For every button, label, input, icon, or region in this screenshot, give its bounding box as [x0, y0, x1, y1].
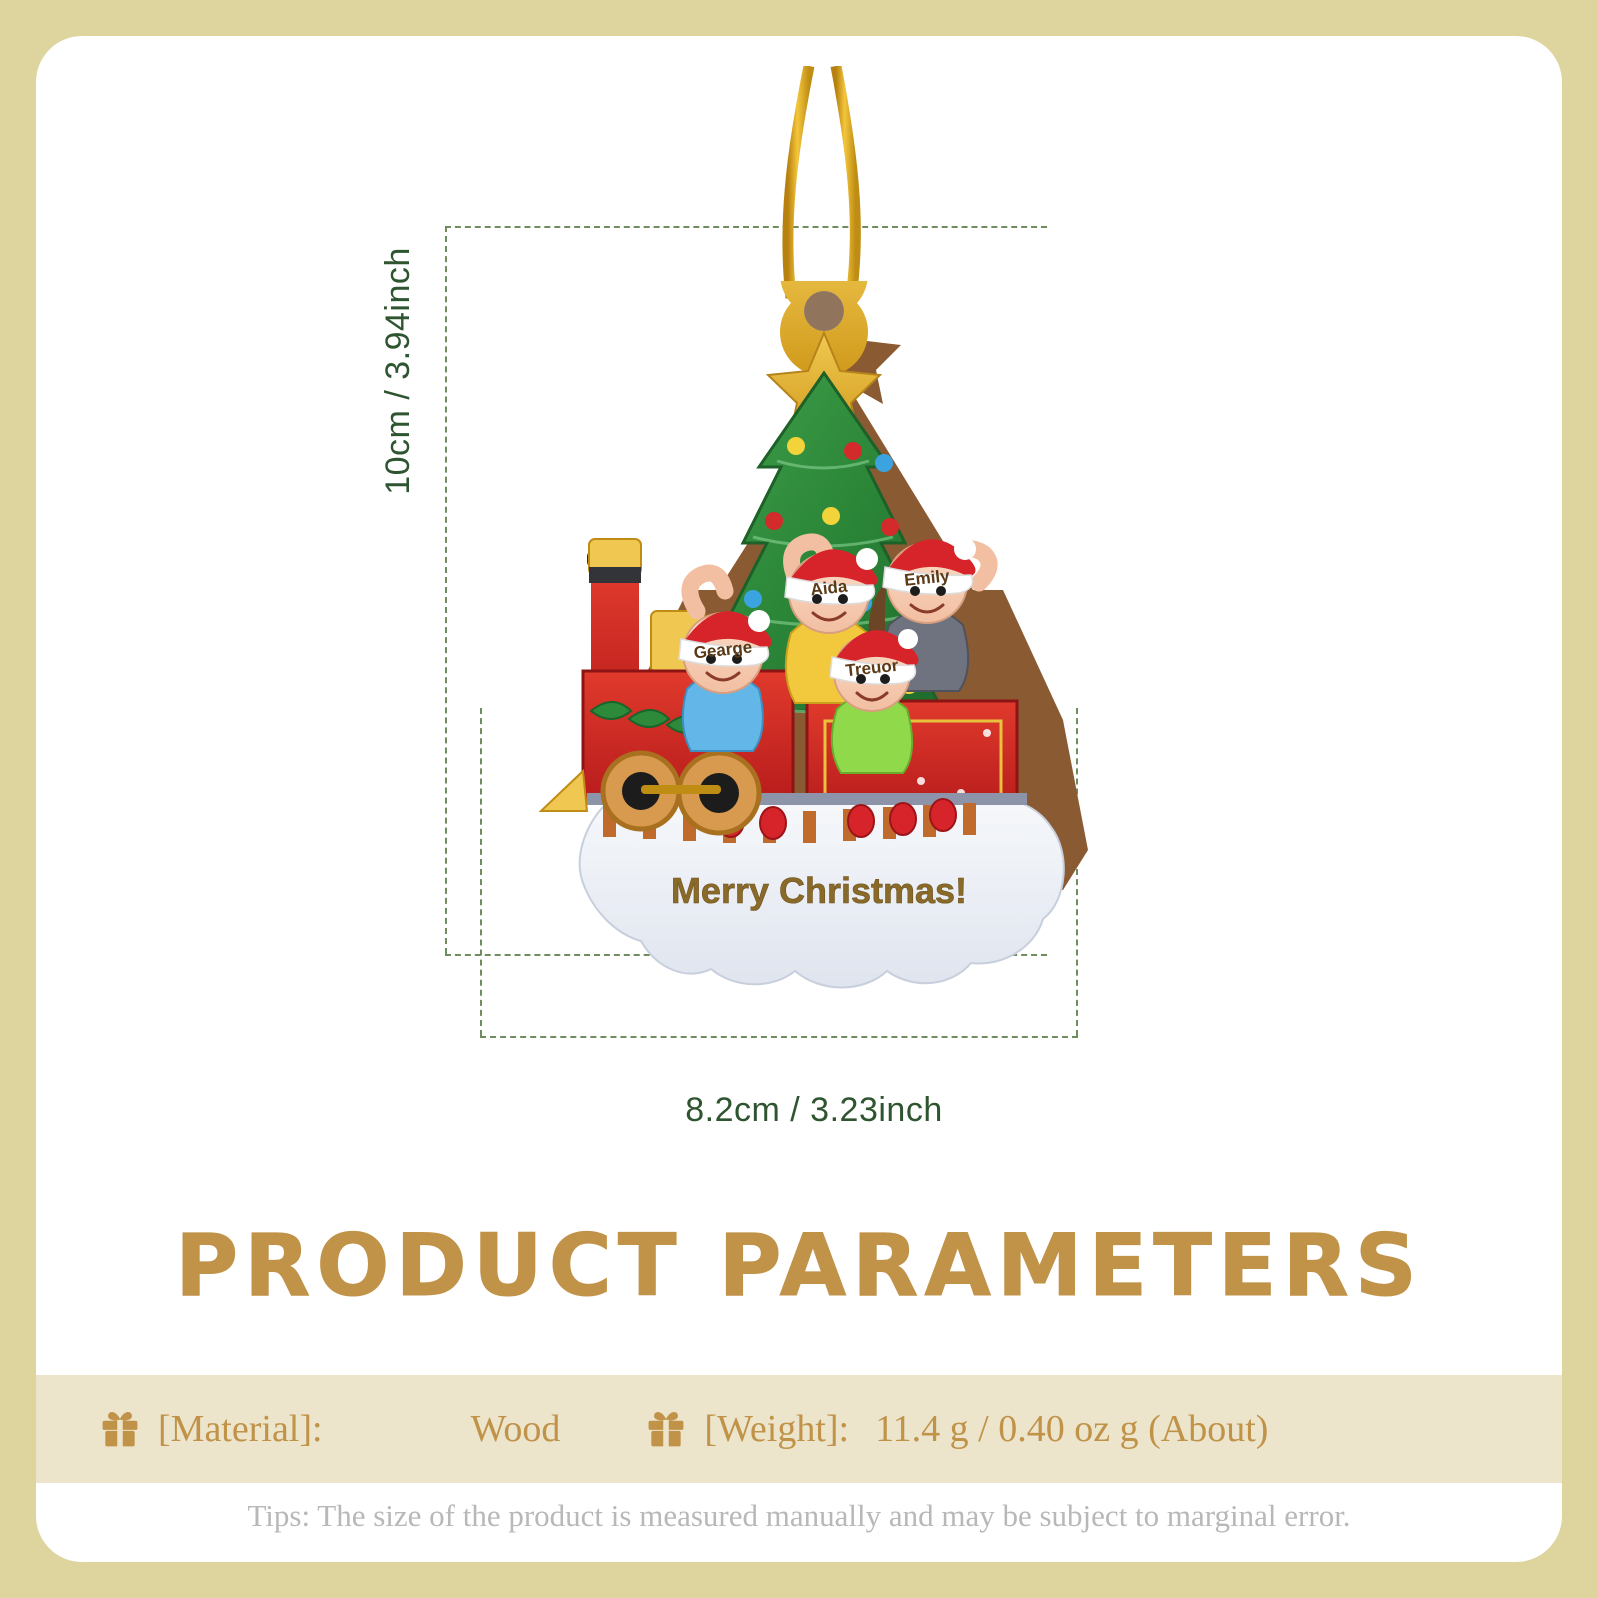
weight-value: 11.4 g / 0.40 oz g (About): [875, 1407, 1268, 1451]
product-image: Gearge Aida: [491, 66, 1151, 996]
weight-label: [Weight]:: [704, 1407, 849, 1451]
gift-icon: [644, 1407, 688, 1451]
parameter-material: [Material]: Wood: [98, 1407, 560, 1451]
engraved-text: Merry Christmas!: [671, 870, 967, 911]
height-dimension-label: 10cm / 3.94inch: [379, 226, 418, 516]
guide-line-height-left: [445, 226, 447, 954]
guide-line-width-left: [480, 708, 482, 1036]
guide-line-width-bottom: [480, 1036, 1078, 1038]
ornament-figure: Gearge Aida: [491, 281, 1151, 996]
product-info-page: 10cm / 3.94inch 8.2cm / 3.23inch: [0, 0, 1598, 1598]
gift-icon: [98, 1407, 142, 1451]
page-title: PRODUCT PARAMETERS: [36, 1216, 1562, 1316]
figure-name-aida: Aida: [810, 577, 849, 600]
width-dimension-label: 8.2cm / 3.23inch: [516, 1091, 1112, 1130]
material-value: Wood: [471, 1407, 561, 1451]
material-label: [Material]:: [158, 1407, 323, 1451]
tips-note: Tips: The size of the product is measure…: [36, 1498, 1562, 1534]
content-card: 10cm / 3.94inch 8.2cm / 3.23inch: [36, 36, 1562, 1562]
parameters-bar: [Material]: Wood [Weight]: 11.4 g / 0.40…: [36, 1375, 1562, 1483]
parameter-weight: [Weight]: 11.4 g / 0.40 oz g (About): [644, 1407, 1268, 1451]
